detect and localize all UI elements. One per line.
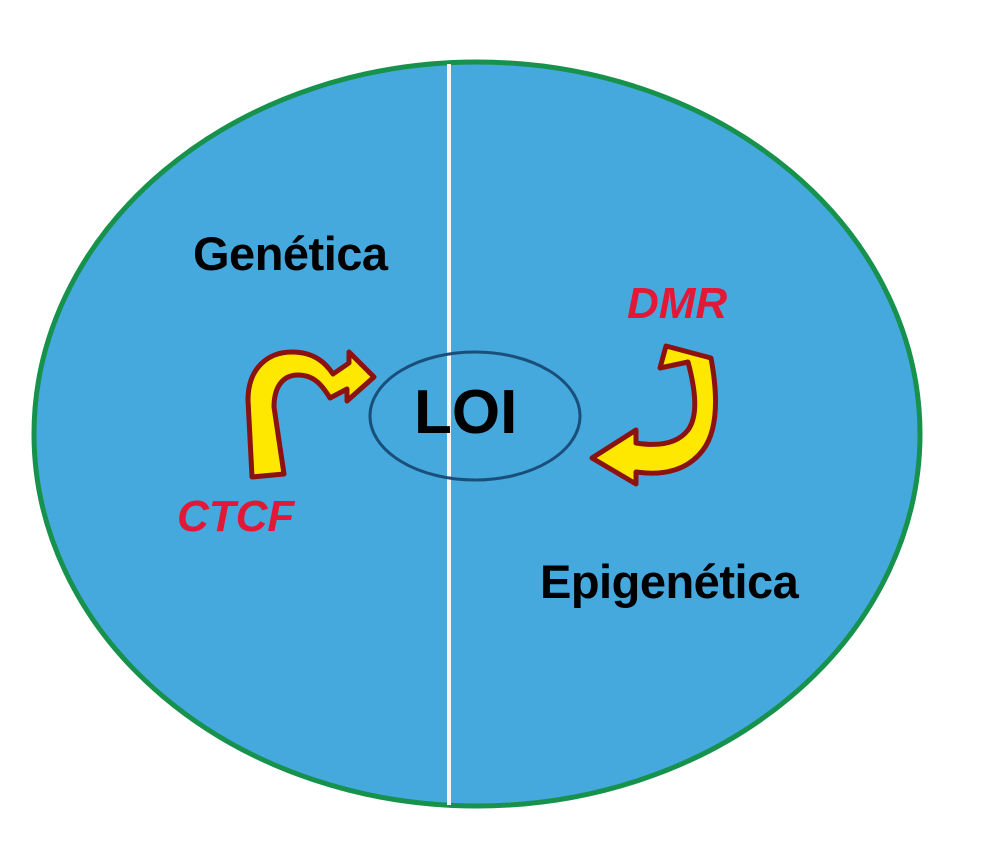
label-genetica: Genética — [193, 230, 388, 277]
diagram-canvas: Genética Epigenética LOI CTCF DMR — [0, 0, 983, 850]
label-dmr: DMR — [627, 282, 727, 326]
label-epigenetica: Epigenética — [540, 558, 798, 605]
label-ctcf: CTCF — [177, 495, 294, 539]
label-loi: LOI — [414, 382, 517, 444]
